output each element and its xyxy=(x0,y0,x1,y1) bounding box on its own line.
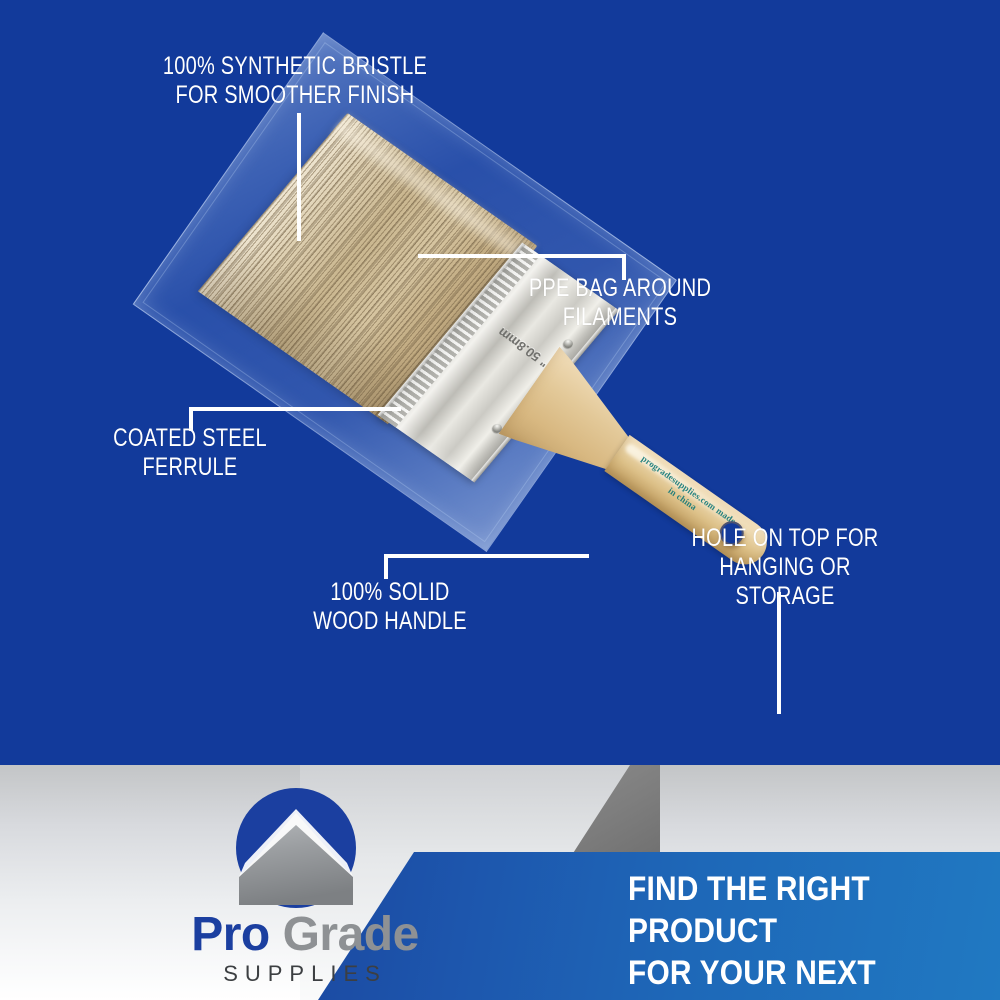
leader-line-wood-drop xyxy=(384,554,388,579)
logo-wordmark: Pro Grade xyxy=(155,907,455,962)
infographic-canvas: 2" 50.8mm progradesupplies.com made in c… xyxy=(0,0,1000,1000)
callout-hanging-hole: HOLE ON TOP FOR HANGING OR STORAGE xyxy=(669,524,901,611)
callout-ppe-bag: PPE BAG AROUND FILAMENTS xyxy=(512,274,728,332)
leader-line-ppe-horizontal xyxy=(418,254,626,258)
logo-word-grade: Grade xyxy=(283,908,419,961)
leader-line-wood-horizontal xyxy=(384,554,589,558)
product-photo-area: 2" 50.8mm progradesupplies.com made in c… xyxy=(0,0,1000,772)
logo-word-pro: Pro xyxy=(191,908,270,961)
logo-house-circle-icon xyxy=(215,785,377,911)
callout-bristle: 100% SYNTHETIC BRISTLE FOR SMOOTHER FINI… xyxy=(143,52,447,110)
leader-line-ferrule-horizontal xyxy=(189,407,401,411)
callout-wood-handle: 100% SOLID WOOD HANDLE xyxy=(274,578,506,636)
logo-tagline: SUPPLIES xyxy=(155,961,455,987)
banner-headline: FIND THE RIGHT PRODUCT FOR YOUR NEXT REN… xyxy=(628,868,955,1000)
leader-line-bristle xyxy=(297,113,301,241)
callout-ferrule: COATED STEEL FERRULE xyxy=(82,424,298,482)
brand-logo: Pro Grade SUPPLIES xyxy=(155,785,455,985)
